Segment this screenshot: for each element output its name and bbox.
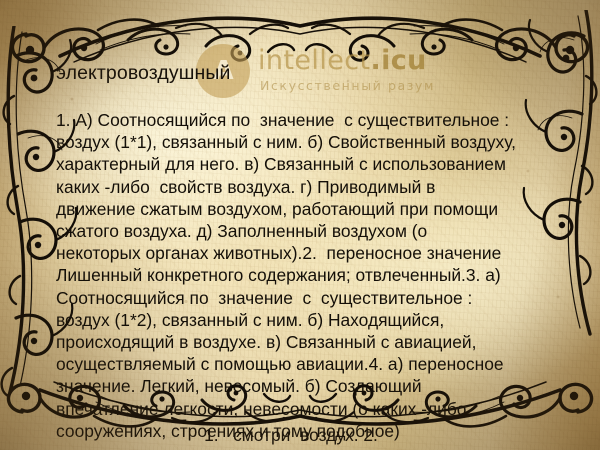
slide-canvas: A intellect.icu Искусственный разум элек… <box>0 0 600 450</box>
definition-tail-text: 1. смотри воздух. 2. <box>56 424 526 446</box>
definition-body-text: 1. А) Соотносящийся по значение с сущест… <box>56 109 516 442</box>
page-title: электровоздушный <box>56 62 230 85</box>
